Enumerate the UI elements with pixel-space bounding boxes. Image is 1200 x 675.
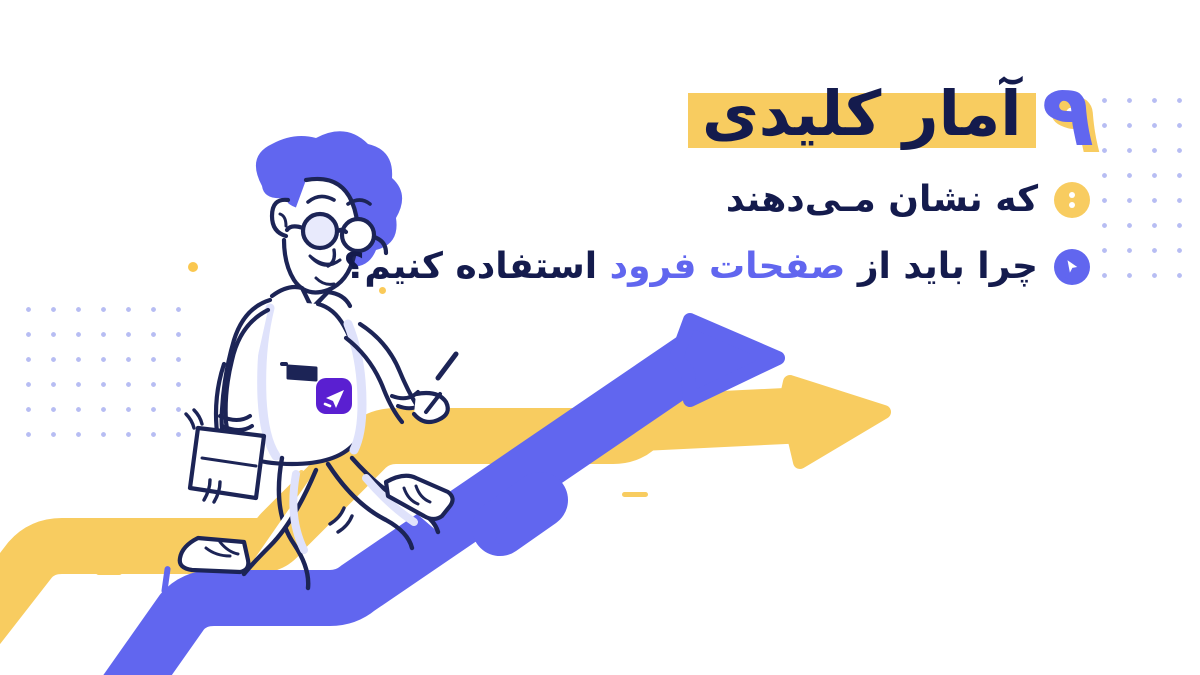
subtitle-line-2: چرا باید از صفحات فرود استفاده کنیم؟ — [344, 243, 1039, 292]
cursor-pointer-icon — [1054, 249, 1090, 285]
title-row: ۹ آمار کلیدی — [410, 58, 1090, 158]
page-title: آمار کلیدی — [702, 77, 1022, 150]
pen-icon — [438, 354, 456, 378]
poster-canvas: ۹ آمار کلیدی که نشان مـی‌دهند چرا باید ا… — [0, 0, 1200, 675]
subtitle-line-2-highlight: صفحات فرود — [610, 246, 846, 287]
paper-plane-badge — [316, 378, 352, 414]
headline-block: ۹ آمار کلیدی که نشان مـی‌دهند چرا باید ا… — [410, 58, 1090, 291]
sneaker-back — [180, 538, 249, 572]
key-stats-count: ۹ — [1042, 76, 1095, 158]
subtitle-line-2-before: چرا باید از — [845, 246, 1038, 287]
subtitle-line-1: که نشان مـی‌دهند — [726, 176, 1038, 225]
subtitle-row-2: چرا باید از صفحات فرود استفاده کنیم؟ — [410, 243, 1090, 292]
title-highlight: آمار کلیدی — [688, 79, 1036, 152]
subtitle-line-2-after: استفاده کنیم؟ — [344, 246, 610, 287]
vertical-dots-icon — [1054, 182, 1090, 218]
subtitle-row-1: که نشان مـی‌دهند — [410, 176, 1090, 225]
